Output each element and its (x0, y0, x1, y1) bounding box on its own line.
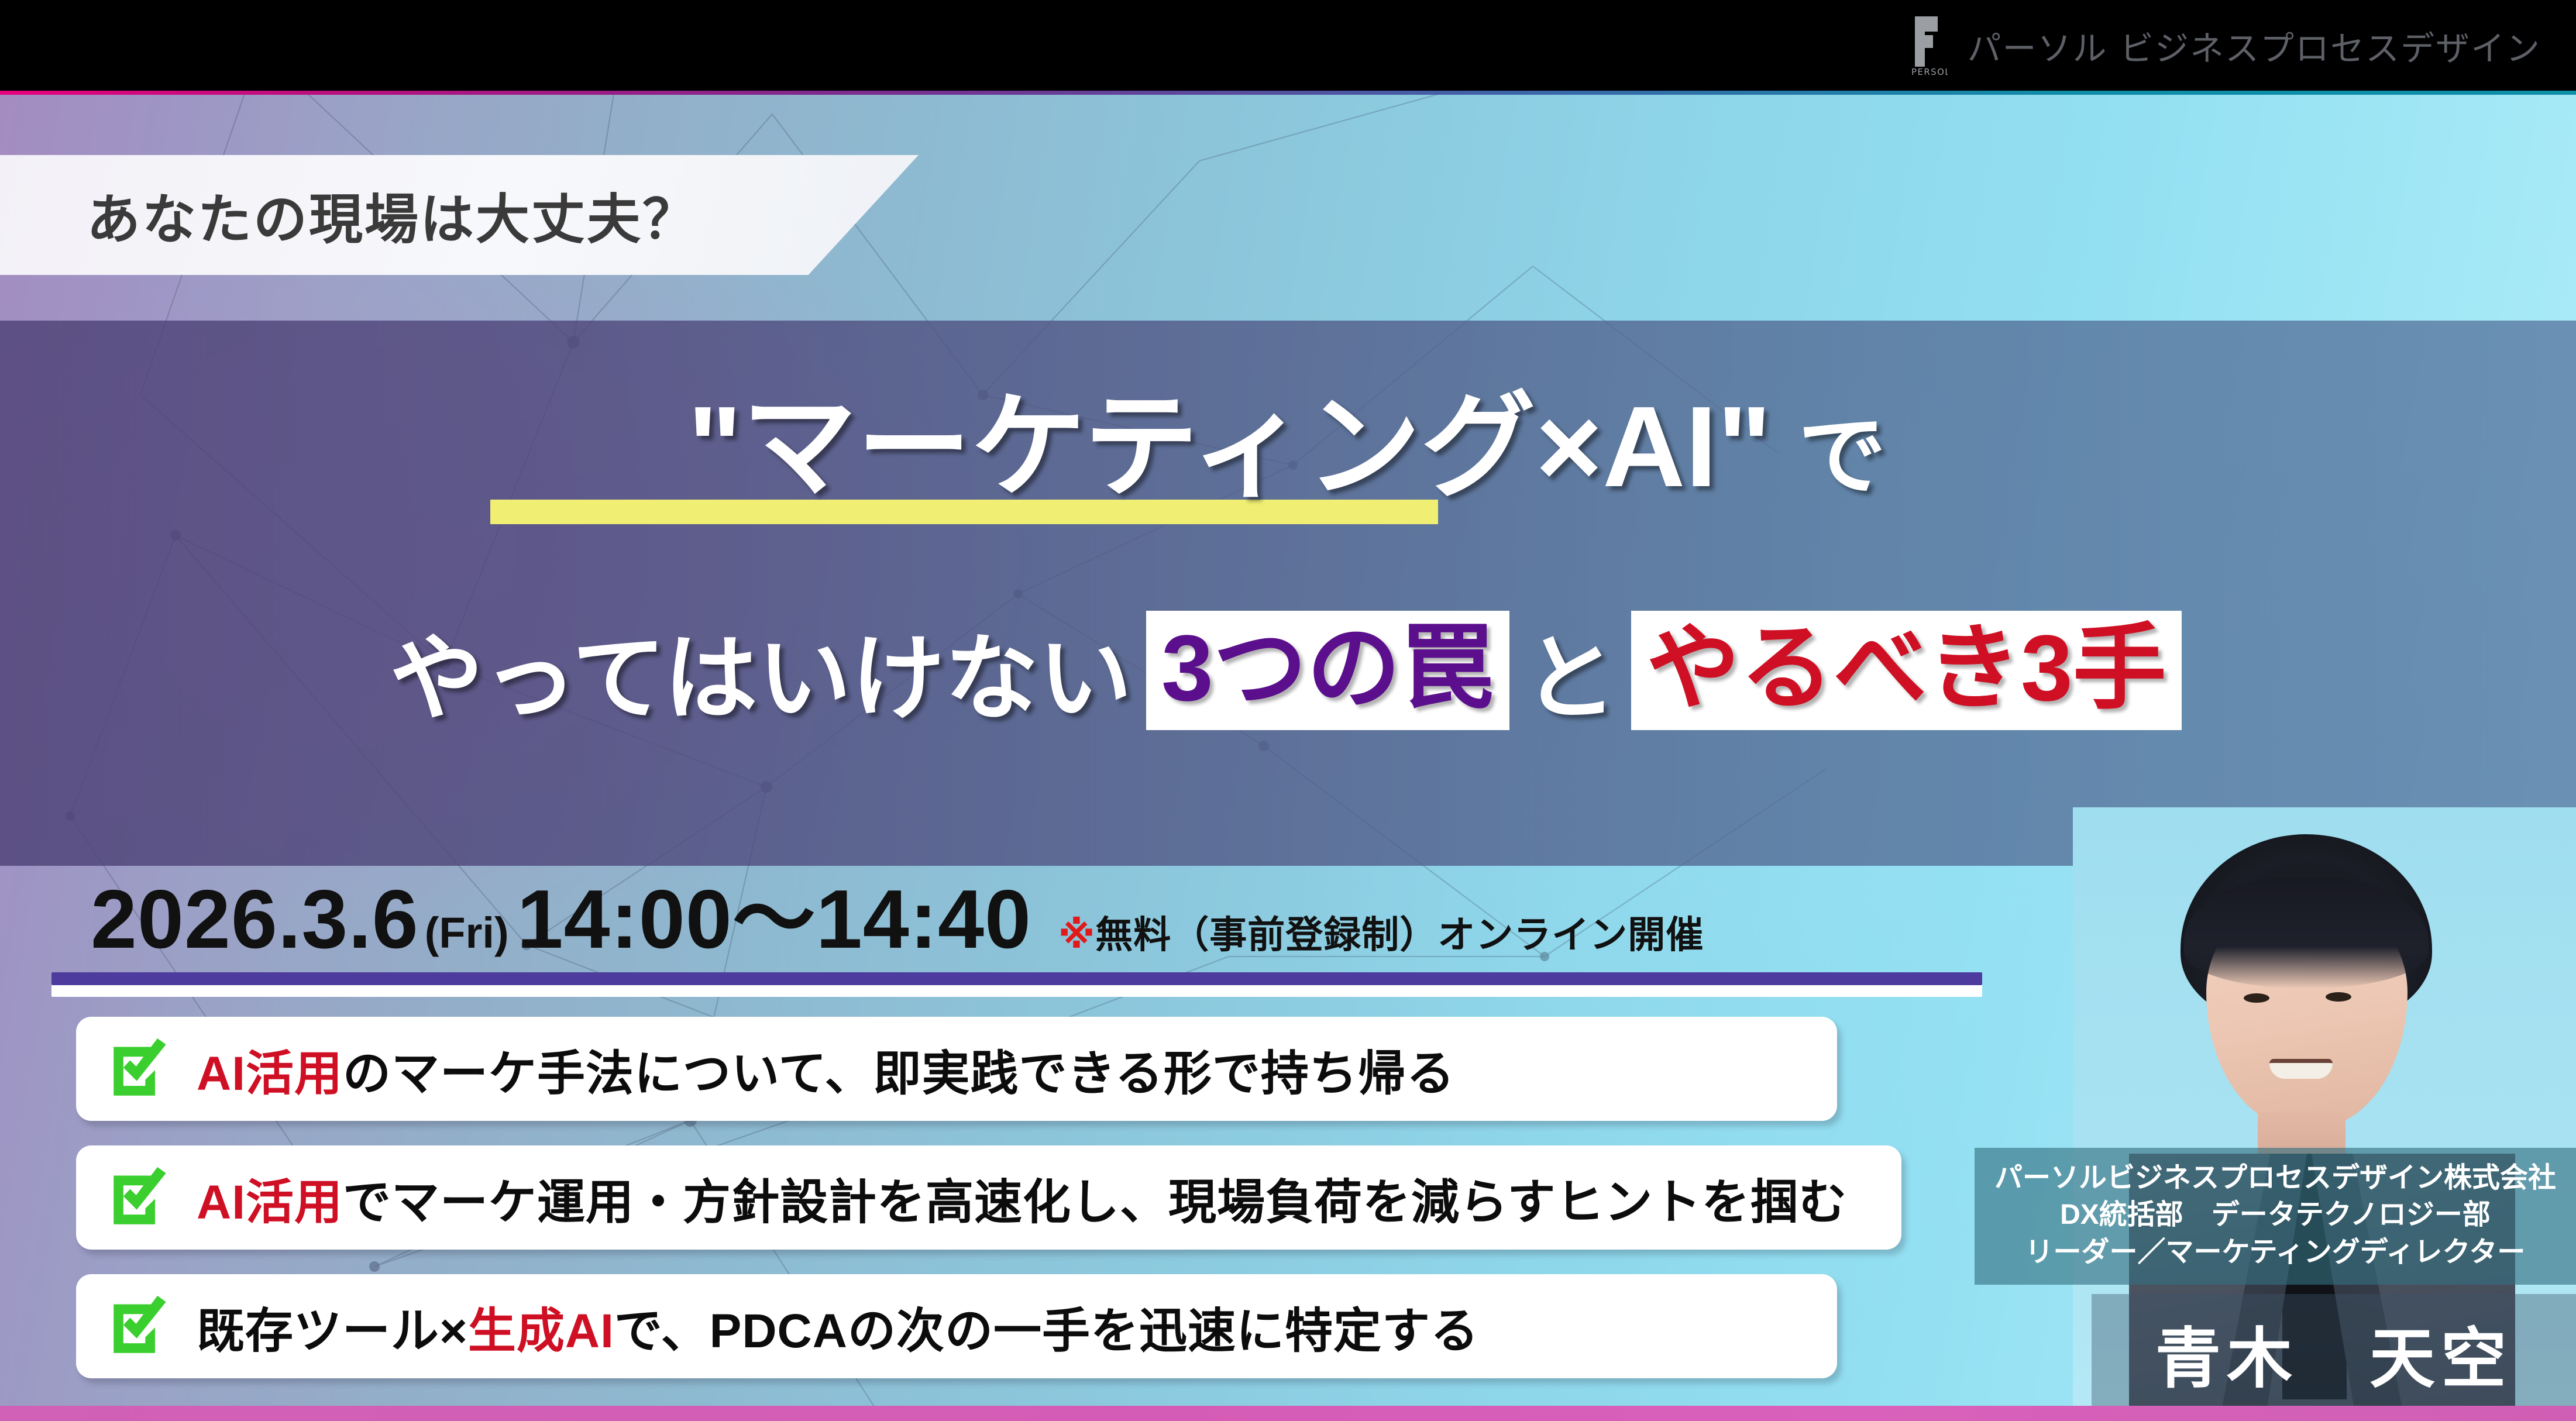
webinar-banner: PERSOL パーソル ビジネスプロセスデザイン あなたの現場は大丈夫？ "マー… (0, 0, 2576, 1421)
headline-line2-connector: と (1519, 603, 1622, 738)
benefit-highlight: AI活用 (197, 1176, 343, 1229)
event-datetime: 2026.3.6 (Fri) 14:00〜14:40 ※無料（事前登録制）オンラ… (91, 851, 1704, 972)
list-item-label: 既存ツール×生成AIで、PDCAの次の一手を迅速に特定する (197, 1292, 1479, 1361)
action-count-chip: やるべき3手 (1631, 611, 2182, 730)
speaker-affiliation-line-1: パーソルビジネスプロセスデザイン株式会社 (1990, 1159, 2561, 1196)
section-divider (51, 972, 1982, 985)
brand-name: パーソル ビジネスプロセスデザイン (1968, 21, 2541, 70)
speaker-affiliation-line-3: リーダー／マーケティングディレクター (1990, 1234, 2561, 1271)
portrait-fringe (2184, 878, 2429, 989)
persol-logo-mark: PERSOL (1909, 15, 1948, 76)
benefit-highlight: 生成AI (468, 1305, 614, 1358)
headline-line-2: やってはいけない 3つの罠 と やるべき3手 (0, 603, 2576, 738)
note-text: 無料（事前登録制）オンライン開催 (1095, 914, 1704, 956)
headline-line2-prefix: やってはいけない (385, 603, 1137, 738)
portrait-eye-left (2244, 993, 2269, 1003)
brand-logo[interactable]: PERSOL パーソル ビジネスプロセスデザイン (1909, 0, 2541, 91)
list-item: AI活用でマーケ運用・方針設計を高速化し、現場負荷を減らすヒントを掴む (76, 1145, 1901, 1250)
trap-count-chip: 3つの罠 (1146, 611, 1509, 730)
list-item-label: AI活用でマーケ運用・方針設計を高速化し、現場負荷を減らすヒントを掴む (197, 1163, 1847, 1233)
list-item: 既存ツール×生成AIで、PDCAの次の一手を迅速に特定する (76, 1274, 1837, 1378)
benefit-list: AI活用のマーケ手法について、即実践できる形で持ち帰る AI活用でマーケ運用・方… (76, 1017, 1901, 1403)
list-item: AI活用のマーケ手法について、即実践できる形で持ち帰る (76, 1017, 1837, 1121)
svg-text:PERSOL: PERSOL (1911, 67, 1948, 76)
benefit-prefix: 既存ツール× (197, 1305, 468, 1358)
list-item-label: AI活用のマーケ手法について、即実践できる形で持ち帰る (197, 1034, 1455, 1104)
bottom-accent-bar (0, 1406, 2576, 1421)
benefit-rest: で、PDCAの次の一手を迅速に特定する (614, 1305, 1479, 1358)
event-day-of-week: (Fri) (425, 908, 509, 958)
benefit-highlight: AI活用 (197, 1047, 343, 1100)
speaker-name: 青木 天空 (2092, 1294, 2576, 1416)
ribbon-label: あなたの現場は大丈夫？ (87, 176, 698, 254)
event-time: 14:00〜14:40 (517, 851, 1031, 972)
note-asterisk-icon: ※ (1058, 914, 1095, 956)
speaker-affiliation: パーソルビジネスプロセスデザイン株式会社 DX統括部 データテクノロジー部 リー… (1975, 1148, 2576, 1285)
checked-box-icon (110, 1167, 171, 1228)
headline-line1-tail: で (1772, 407, 1889, 505)
question-ribbon: あなたの現場は大丈夫？ (0, 155, 919, 275)
headline-line-1: "マーケティング×AI" で (0, 354, 2576, 519)
benefit-rest: でマーケ運用・方針設計を高速化し、現場負荷を減らすヒントを掴む (343, 1176, 1847, 1229)
header-accent-rule (0, 91, 2576, 95)
portrait-mouth (2269, 1059, 2333, 1079)
benefit-rest: のマーケ手法について、即実践できる形で持ち帰る (343, 1047, 1455, 1100)
event-note: ※無料（事前登録制）オンライン開催 (1058, 905, 1704, 959)
checked-box-icon (110, 1038, 171, 1099)
speaker-affiliation-line-2: DX統括部 データテクノロジー部 (1990, 1196, 2561, 1233)
portrait-eye-right (2326, 992, 2351, 1002)
headline-quoted-term: "マーケティング×AI" (687, 383, 1772, 511)
event-date: 2026.3.6 (91, 872, 419, 968)
checked-box-icon (110, 1296, 171, 1357)
